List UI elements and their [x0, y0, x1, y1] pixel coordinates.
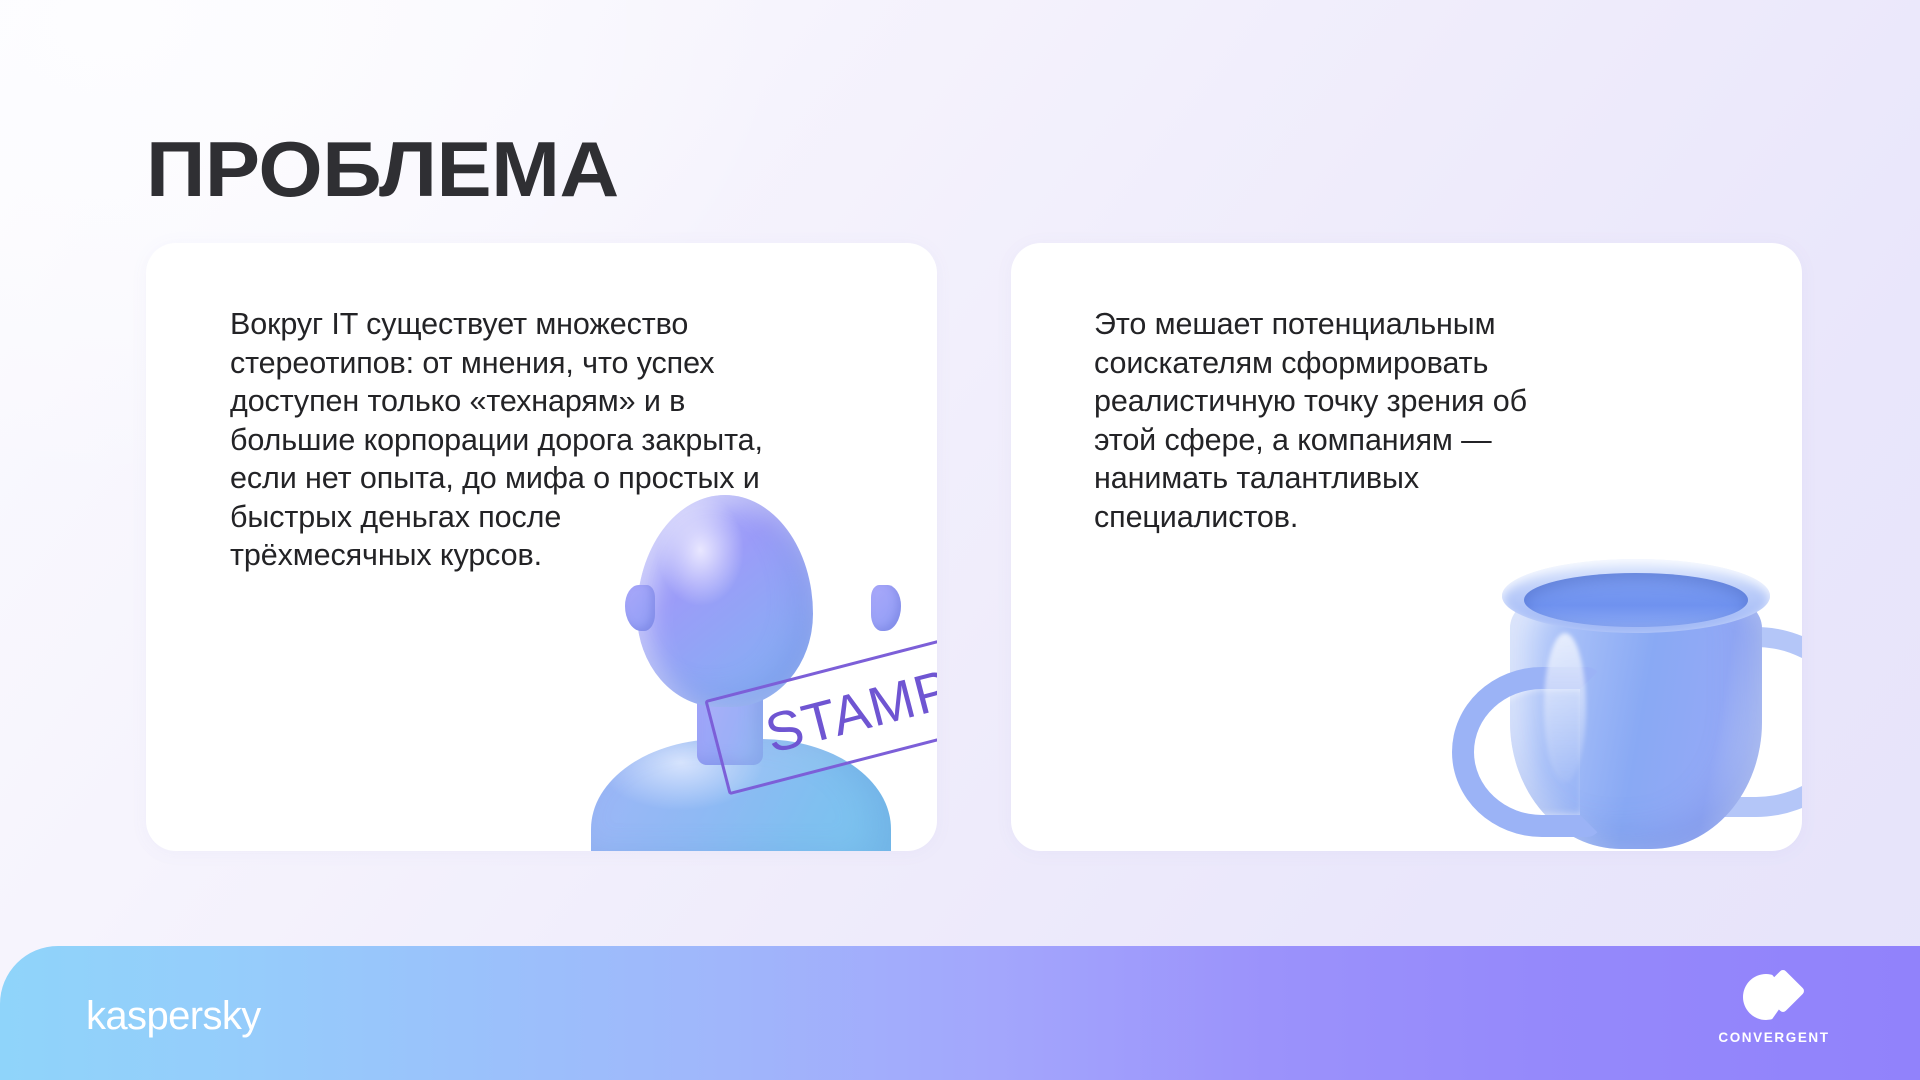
mannequin-shoulders	[591, 739, 891, 851]
problem-card-left: Вокруг IT существует множество стереотип…	[146, 243, 937, 851]
slide-root: ПРОБЛЕМА Вокруг IT существует множество …	[0, 0, 1920, 1080]
card-right-body: Это мешает потенциальным соискателям сфо…	[1094, 305, 1564, 536]
convergent-logo: CONVERGENT	[1712, 972, 1836, 1045]
cup-inner-surface	[1524, 573, 1748, 627]
glass-cup-illustration	[1448, 563, 1802, 851]
convergent-mark-icon	[1743, 972, 1805, 1022]
footer-bar: kaspersky CONVERGENT	[0, 946, 1920, 1080]
cup-handle-back	[1684, 627, 1802, 817]
cards-container: Вокруг IT существует множество стереотип…	[146, 243, 1802, 851]
page-title: ПРОБЛЕМА	[146, 130, 619, 208]
convergent-wordmark: CONVERGENT	[1718, 1031, 1829, 1045]
mannequin-neck	[697, 677, 763, 765]
problem-card-right: Это мешает потенциальным соискателям сфо…	[1011, 243, 1802, 851]
kaspersky-logo: kaspersky	[86, 996, 261, 1036]
cup-handle-front	[1452, 667, 1602, 837]
mannequin-ear-left	[625, 585, 655, 631]
cup-body	[1510, 573, 1762, 849]
stamp-badge: STAMP	[704, 627, 937, 795]
mannequin-ear-right	[871, 585, 901, 631]
stamp-label: STAMP	[760, 661, 937, 762]
card-left-body: Вокруг IT существует множество стереотип…	[230, 305, 770, 575]
cup-rim	[1502, 559, 1770, 633]
cup-highlight	[1544, 633, 1586, 783]
